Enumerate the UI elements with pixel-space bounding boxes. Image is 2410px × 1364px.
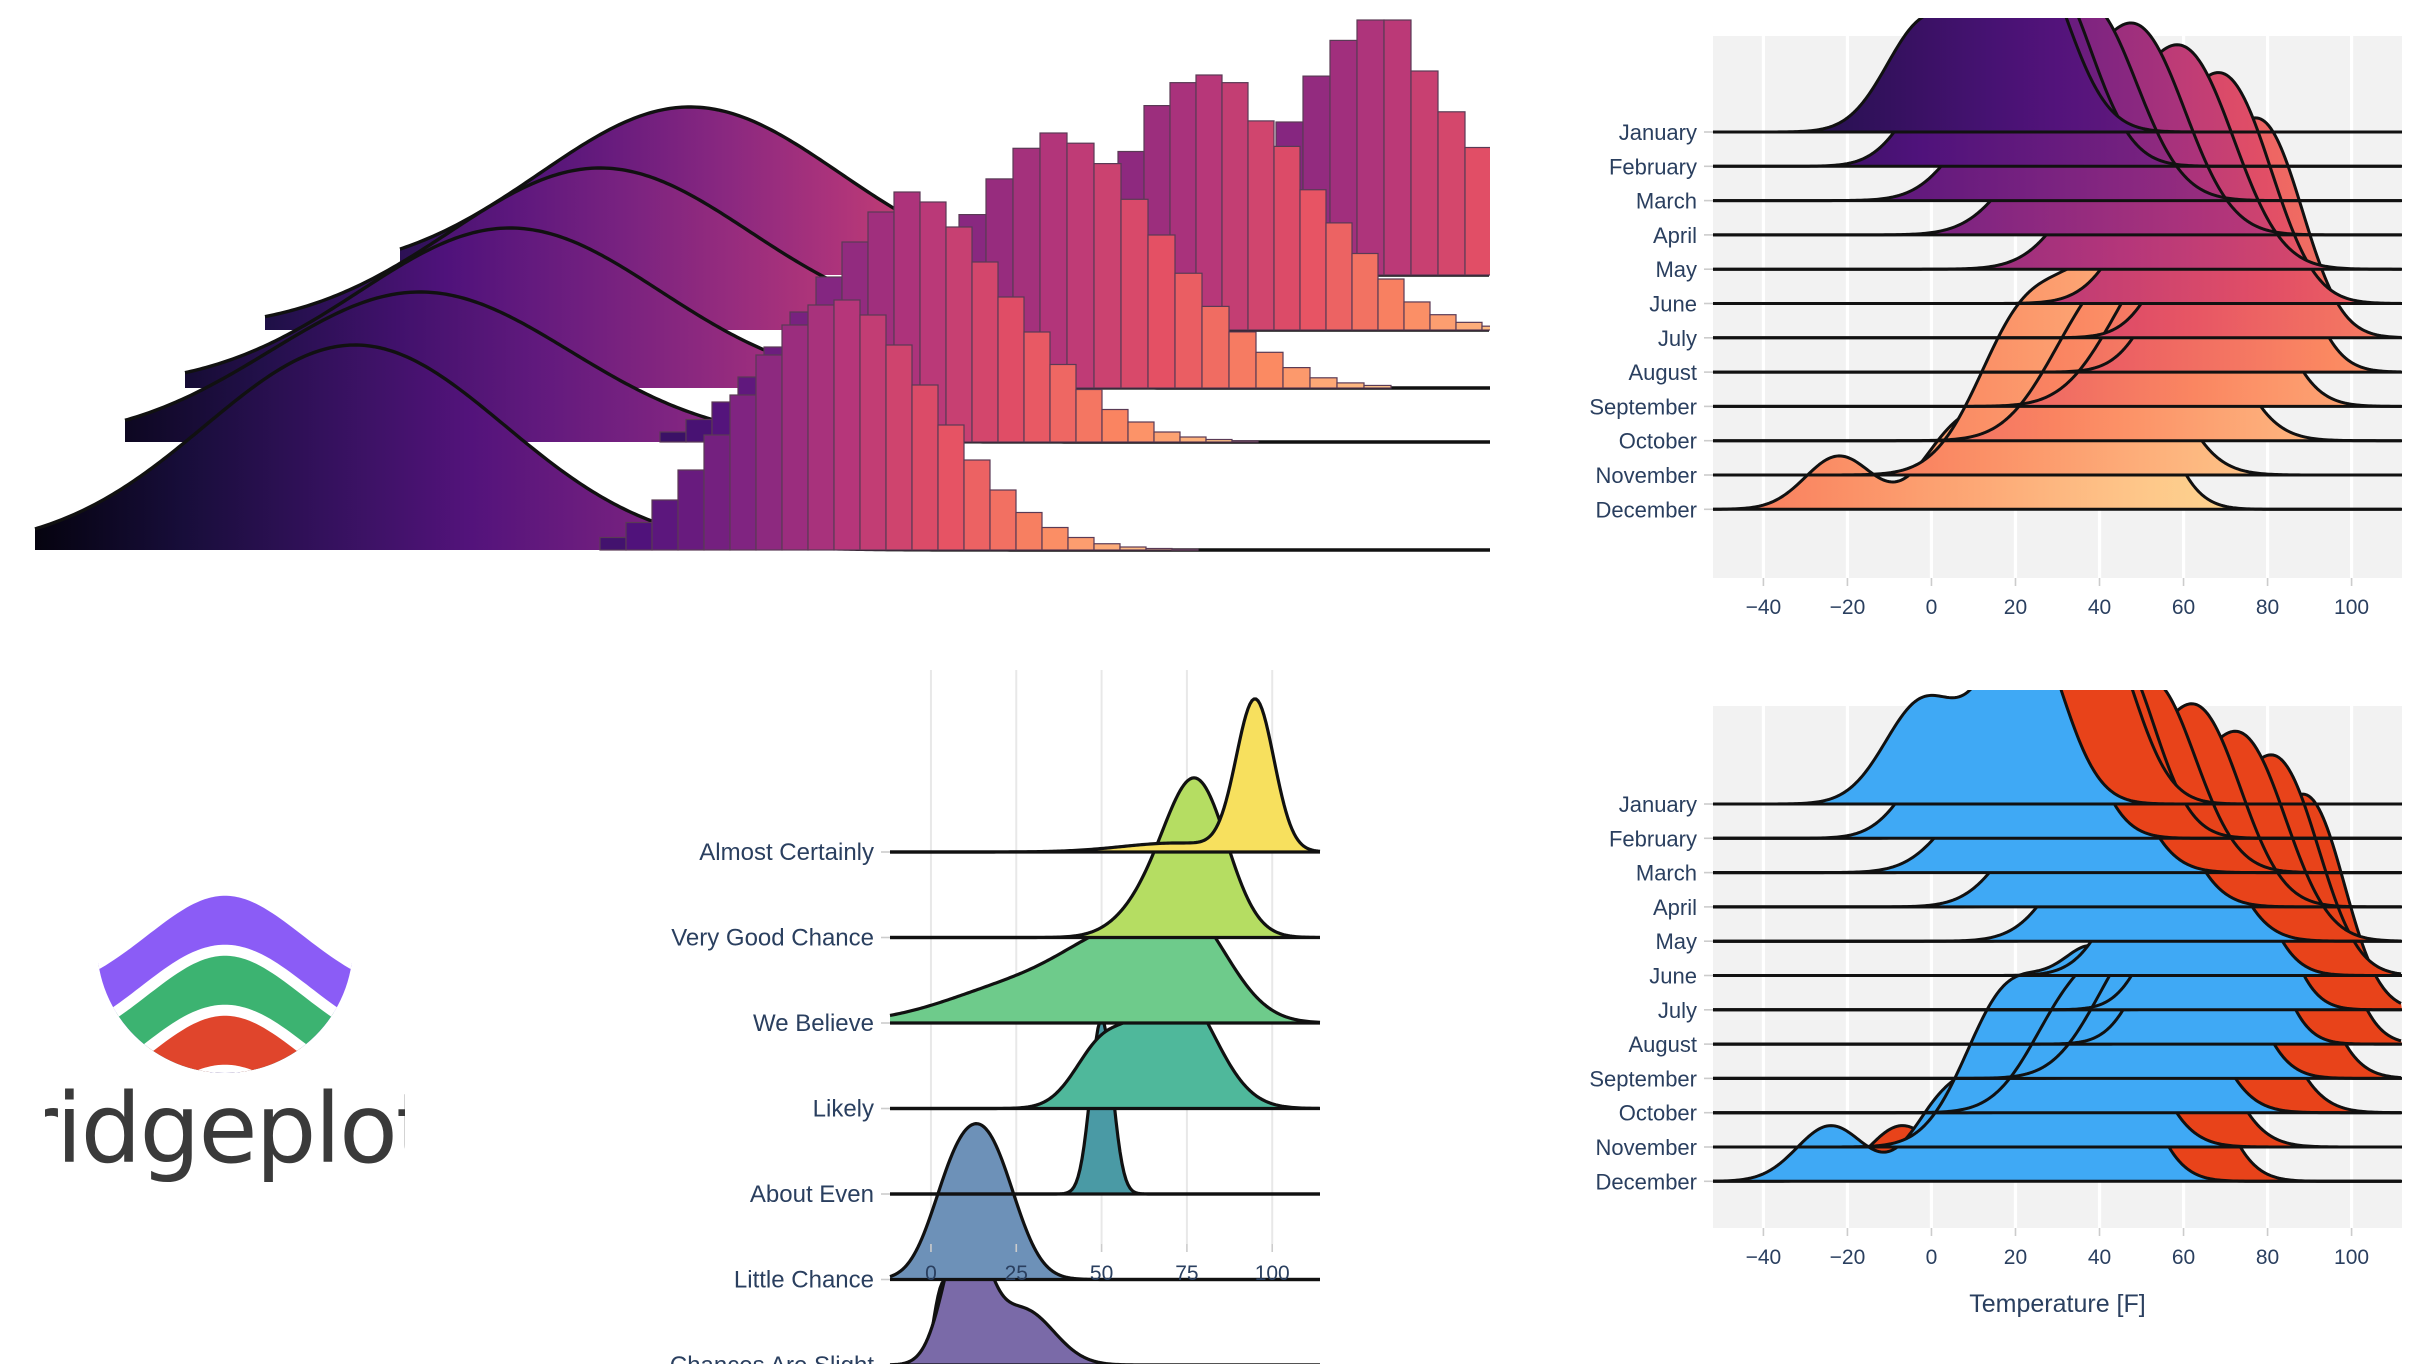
chart-probability-phrases: Almost No ChanceChances Are SlightLittle… — [420, 660, 1455, 1364]
histogram-bar — [1357, 20, 1384, 275]
x-tick-label: −20 — [1830, 596, 1866, 619]
y-axis-label: February — [1609, 826, 1697, 851]
histogram-bar — [1024, 332, 1050, 442]
x-tick-label: 25 — [1005, 1262, 1028, 1285]
y-axis-label: December — [1596, 497, 1697, 522]
x-axis-title: Temperature [F] — [1969, 1290, 2145, 1318]
x-axis: −40−20020406080100 — [1746, 1228, 2370, 1269]
histogram-bar — [1120, 547, 1146, 550]
histogram-bar — [730, 395, 756, 550]
y-axis-label: May — [1655, 257, 1697, 282]
x-tick-label: 75 — [1175, 1262, 1198, 1285]
histogram-bar — [912, 385, 938, 550]
x-tick-label: 20 — [2004, 1246, 2027, 1269]
y-axis-label: About Even — [750, 1181, 874, 1208]
x-tick-label: −40 — [1746, 596, 1782, 619]
histogram-bar — [1068, 538, 1094, 551]
x-tick-label: −40 — [1746, 1246, 1782, 1269]
x-tick-label: −20 — [1830, 1246, 1866, 1269]
y-axis-label: January — [1619, 792, 1697, 817]
y-axis-label: June — [1649, 964, 1697, 989]
x-tick-label: 0 — [1926, 1246, 1938, 1269]
histogram-bar — [834, 300, 860, 550]
y-axis-label: October — [1619, 429, 1697, 454]
histogram-bar — [600, 538, 626, 551]
histogram-bar — [1042, 528, 1068, 551]
x-tick-label: 80 — [2256, 596, 2279, 619]
histogram-bar — [1274, 146, 1300, 330]
histogram-bar — [808, 305, 834, 550]
histogram-bar — [1172, 549, 1198, 550]
y-axis-label: Chances Are Slight — [670, 1352, 874, 1364]
histogram-bar — [660, 432, 686, 442]
histogram-bar — [1206, 440, 1232, 443]
chart-temperature-magma: DecemberNovemberOctoberSeptemberAugustJu… — [1455, 18, 2410, 678]
histogram-bar — [1411, 71, 1438, 275]
histogram-bar — [1222, 83, 1248, 330]
histogram-bar — [860, 315, 886, 550]
histogram-bar — [1229, 332, 1256, 388]
histogram-bar — [1300, 190, 1326, 330]
y-axis-label: August — [1629, 1032, 1698, 1057]
histogram-bar — [1404, 302, 1430, 330]
histogram-bar — [1094, 164, 1121, 388]
ridgeplot-logo: ridgeplot — [45, 790, 405, 1190]
histogram-bar — [1067, 143, 1094, 388]
histogram-bar — [1154, 432, 1180, 442]
y-axis-label: March — [1636, 189, 1697, 214]
histogram-bar — [1146, 549, 1172, 551]
x-tick-label: 60 — [2172, 596, 2195, 619]
x-tick-label: 50 — [1090, 1262, 1113, 1285]
y-axis-label: November — [1596, 463, 1697, 488]
histogram-bar — [1076, 390, 1102, 443]
y-axis-label: January — [1619, 120, 1697, 145]
y-axis-label: March — [1636, 861, 1697, 886]
y-axis-label: Likely — [813, 1096, 874, 1123]
x-axis: −40−20020406080100 — [1746, 578, 2370, 619]
histogram-bar — [1364, 385, 1391, 388]
histogram-bar — [1128, 422, 1154, 442]
histogram-bar — [1175, 273, 1202, 388]
x-tick-label: 100 — [2334, 1246, 2369, 1269]
histogram-bar — [756, 355, 782, 550]
histogram-bar — [886, 345, 912, 550]
histogram-bar — [1283, 368, 1310, 388]
histogram-bar — [1378, 279, 1404, 330]
chart-histogram-ridgeline — [0, 0, 1490, 660]
histogram-bar — [1337, 383, 1364, 388]
y-axis-label: September — [1589, 1066, 1697, 1091]
histogram-bar — [998, 297, 1024, 442]
y-axis-label: Almost Certainly — [699, 839, 874, 866]
histogram-bar — [946, 227, 972, 442]
histogram-bar — [1102, 410, 1128, 443]
y-axis-label: We Believe — [753, 1010, 874, 1037]
histogram-bar — [1180, 437, 1206, 442]
histogram-bar — [704, 435, 730, 550]
y-axis-label: July — [1658, 326, 1697, 351]
histogram-bar — [1256, 352, 1283, 388]
x-tick-label: 40 — [2088, 596, 2111, 619]
x-tick-label: 100 — [1255, 1262, 1290, 1285]
x-tick-label: 80 — [2256, 1246, 2279, 1269]
histogram-bar — [972, 262, 998, 442]
histogram-bar — [626, 523, 652, 551]
y-axis-label: April — [1653, 223, 1697, 248]
histogram-bar — [1384, 20, 1411, 275]
histogram-bar — [652, 500, 678, 550]
y-axis-label: Little Chance — [734, 1267, 874, 1294]
x-tick-label: 100 — [2334, 596, 2369, 619]
x-tick-label: 20 — [2004, 596, 2027, 619]
histogram-bar — [964, 460, 990, 550]
y-axis-label: October — [1619, 1101, 1697, 1126]
histogram-bar — [782, 325, 808, 550]
y-axis-label: November — [1596, 1135, 1697, 1160]
histogram-bar — [1430, 315, 1456, 330]
y-axis-label: December — [1596, 1169, 1697, 1194]
histogram-bar — [1050, 365, 1076, 443]
x-tick-label: 0 — [1926, 596, 1938, 619]
x-tick-label: 40 — [2088, 1246, 2111, 1269]
histogram-bar — [1352, 254, 1378, 331]
y-axis-label: June — [1649, 292, 1697, 317]
y-axis-label: Very Good Chance — [671, 925, 874, 952]
histogram-bar — [1148, 235, 1175, 388]
chart-temperature-minmax: DecemberNovemberOctoberSeptemberAugustJu… — [1455, 690, 2410, 1364]
histogram-bar — [1121, 199, 1148, 388]
histogram-bar — [938, 425, 964, 550]
y-axis-label: August — [1629, 360, 1698, 385]
histogram-bar — [1310, 378, 1337, 388]
y-axis-label: April — [1653, 895, 1697, 920]
y-axis-label: July — [1658, 998, 1697, 1023]
histogram-bar — [1202, 306, 1229, 388]
histogram-bar — [1094, 544, 1120, 550]
histogram-bar — [1248, 121, 1274, 330]
y-axis-label: February — [1609, 154, 1697, 179]
histogram-bar — [990, 490, 1016, 550]
histogram-bar — [678, 470, 704, 550]
x-tick-label: 60 — [2172, 1246, 2195, 1269]
histogram-bar — [1232, 441, 1258, 442]
y-axis-label: May — [1655, 929, 1697, 954]
y-axis-label: September — [1589, 394, 1697, 419]
histogram-bar — [1016, 513, 1042, 551]
x-tick-label: 0 — [925, 1262, 937, 1285]
histogram-bar — [1326, 223, 1352, 330]
logo-wordmark: ridgeplot — [45, 1073, 405, 1185]
